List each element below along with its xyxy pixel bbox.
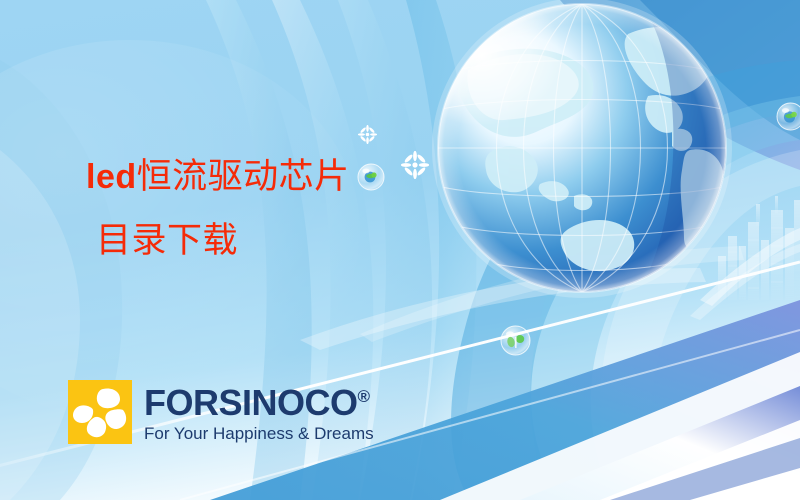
- earth-globe: [432, 0, 732, 300]
- logo-text-block: FORSINOCO® For Your Happiness & Dreams: [144, 380, 374, 442]
- title-latin-prefix: led: [86, 158, 137, 196]
- logo-tagline: For Your Happiness & Dreams: [144, 425, 374, 442]
- company-logo: FORSINOCO® For Your Happiness & Dreams: [68, 380, 374, 444]
- title-cjk-part: 恒流驱动芯片: [137, 157, 350, 197]
- bubble-globe-icon-right: [776, 102, 800, 131]
- registered-trademark-icon: ®: [358, 387, 370, 406]
- poster-canvas: led恒流驱动芯片 目录下载 FORSINOCO® For Your Happi…: [0, 0, 800, 500]
- logo-wordmark: FORSINOCO®: [144, 385, 374, 421]
- title-line-2: 目录下载: [86, 224, 426, 259]
- bubble-sprout-icon: [500, 325, 531, 356]
- title-line-1: led恒流驱动芯片: [86, 160, 426, 195]
- pinwheel-icon: [68, 380, 132, 444]
- sparkle-star-2: [358, 125, 377, 144]
- page-title: led恒流驱动芯片 目录下载: [86, 160, 426, 259]
- logo-wordmark-text: FORSINOCO: [144, 382, 358, 423]
